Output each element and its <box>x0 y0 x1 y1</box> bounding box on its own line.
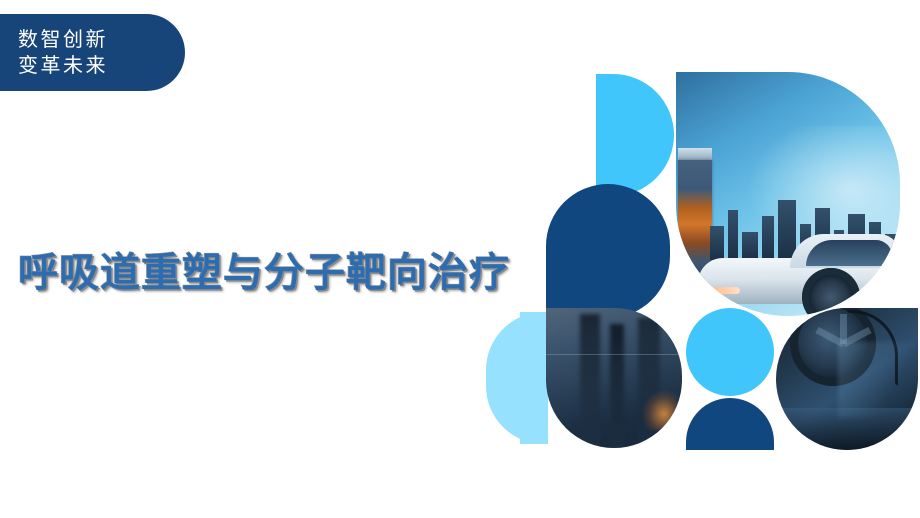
sky-blue-disc-shape <box>686 308 774 396</box>
night-horizon-line <box>546 354 682 355</box>
car-headlamp <box>704 287 740 294</box>
corner-badge-line-1: 数智创新 <box>18 27 185 53</box>
pale-blue-left-fill <box>520 312 548 444</box>
photo-night-city-shape <box>546 308 682 448</box>
decorative-graphic-cluster <box>490 60 910 470</box>
presentation-slide: 数智创新 变革未来 呼吸道重塑与分子靶向治疗 <box>0 0 920 518</box>
corner-badge-line-2: 变革未来 <box>18 53 185 79</box>
car-window <box>806 240 892 266</box>
night-warm-glow <box>642 390 682 430</box>
night-streak-b <box>610 324 624 448</box>
navy-dome-shape <box>686 398 774 450</box>
photo-car-wheel-shape <box>776 308 918 450</box>
white-car <box>698 224 900 316</box>
photo-city-car-shape <box>676 72 900 316</box>
light-blue-d-shape <box>596 74 674 196</box>
page-title: 呼吸道重塑与分子靶向治疗 <box>18 240 510 298</box>
corner-badge: 数智创新 变革未来 <box>0 14 185 91</box>
navy-blob-shape <box>546 184 670 318</box>
wheel-sheen <box>838 342 918 418</box>
night-streak-a <box>580 314 600 448</box>
